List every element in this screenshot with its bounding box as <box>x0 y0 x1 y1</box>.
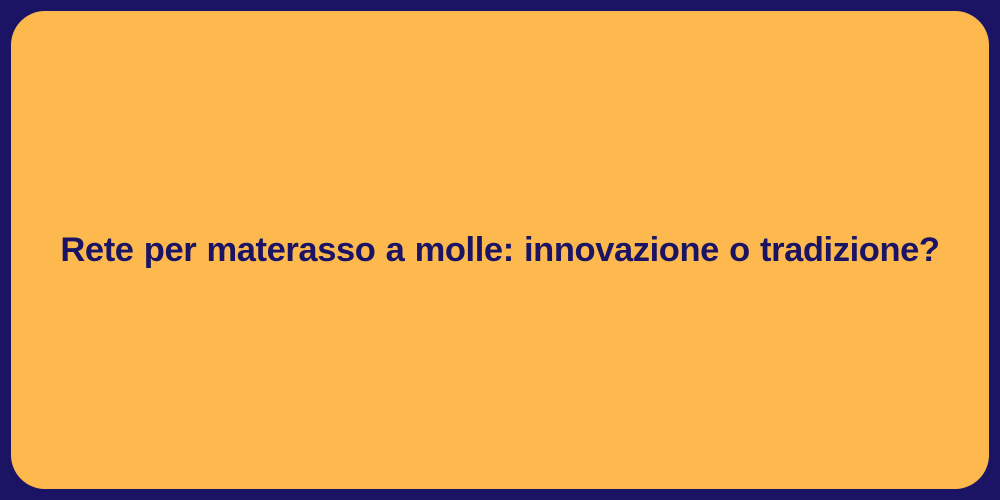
page-frame: Rete per materasso a molle: innovazione … <box>0 0 1000 500</box>
page-title: Rete per materasso a molle: innovazione … <box>11 230 989 271</box>
headline-card: Rete per materasso a molle: innovazione … <box>11 11 989 489</box>
